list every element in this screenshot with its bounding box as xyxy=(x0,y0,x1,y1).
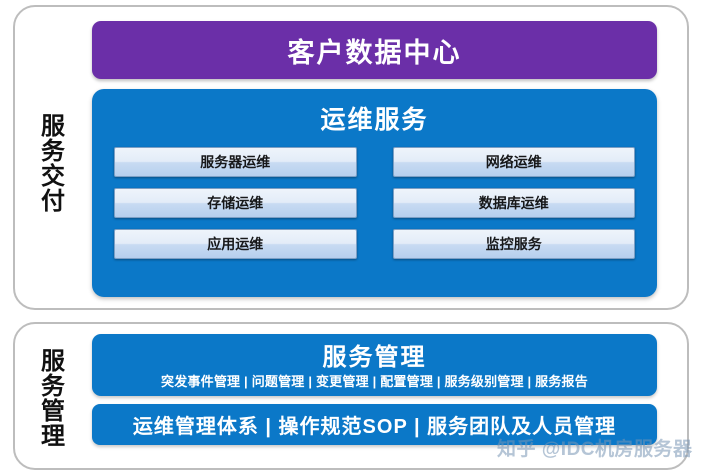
ops-item-label: 服务器运维 xyxy=(200,152,270,172)
customer-data-center-label: 客户数据中心 xyxy=(288,31,462,70)
ops-item-monitoring-service[interactable]: 监控服务 xyxy=(393,229,636,259)
side-label-service-delivery: 服务交付 xyxy=(24,88,74,238)
customer-data-center-banner: 客户数据中心 xyxy=(92,21,657,79)
ops-item-label: 应用运维 xyxy=(207,234,263,254)
service-management-subtitle: 突发事件管理 | 问题管理 | 变更管理 | 配置管理 | 服务级别管理 | 服… xyxy=(92,371,657,390)
service-management-foundation-bar: 运维管理体系 | 操作规范SOP | 服务团队及人员管理 xyxy=(92,404,657,445)
diagram-canvas: 服务交付 客户数据中心 运维服务 服务器运维 网络运维 存储运维 数据库运维 应… xyxy=(0,0,704,476)
ops-service-items-grid: 服务器运维 网络运维 存储运维 数据库运维 应用运维 监控服务 xyxy=(114,147,635,259)
ops-item-label: 监控服务 xyxy=(486,234,542,254)
ops-service-panel: 运维服务 服务器运维 网络运维 存储运维 数据库运维 应用运维 监控服务 xyxy=(92,89,657,297)
side-label-service-management: 服务管理 xyxy=(24,338,74,458)
service-management-banner: 服务管理 突发事件管理 | 问题管理 | 变更管理 | 配置管理 | 服务级别管… xyxy=(92,334,657,396)
ops-item-label: 数据库运维 xyxy=(479,193,549,213)
ops-item-label: 网络运维 xyxy=(486,152,542,172)
service-management-title: 服务管理 xyxy=(92,337,657,372)
ops-service-panel-title: 运维服务 xyxy=(92,100,657,136)
service-management-foundation-label: 运维管理体系 | 操作规范SOP | 服务团队及人员管理 xyxy=(133,410,616,439)
ops-item-network-ops[interactable]: 网络运维 xyxy=(393,147,636,177)
ops-item-label: 存储运维 xyxy=(207,193,263,213)
ops-item-application-ops[interactable]: 应用运维 xyxy=(114,229,357,259)
side-label-service-delivery-text: 服务交付 xyxy=(36,113,63,213)
ops-item-database-ops[interactable]: 数据库运维 xyxy=(393,188,636,218)
ops-item-storage-ops[interactable]: 存储运维 xyxy=(114,188,357,218)
ops-item-server-ops[interactable]: 服务器运维 xyxy=(114,147,357,177)
side-label-service-management-text: 服务管理 xyxy=(36,348,63,448)
